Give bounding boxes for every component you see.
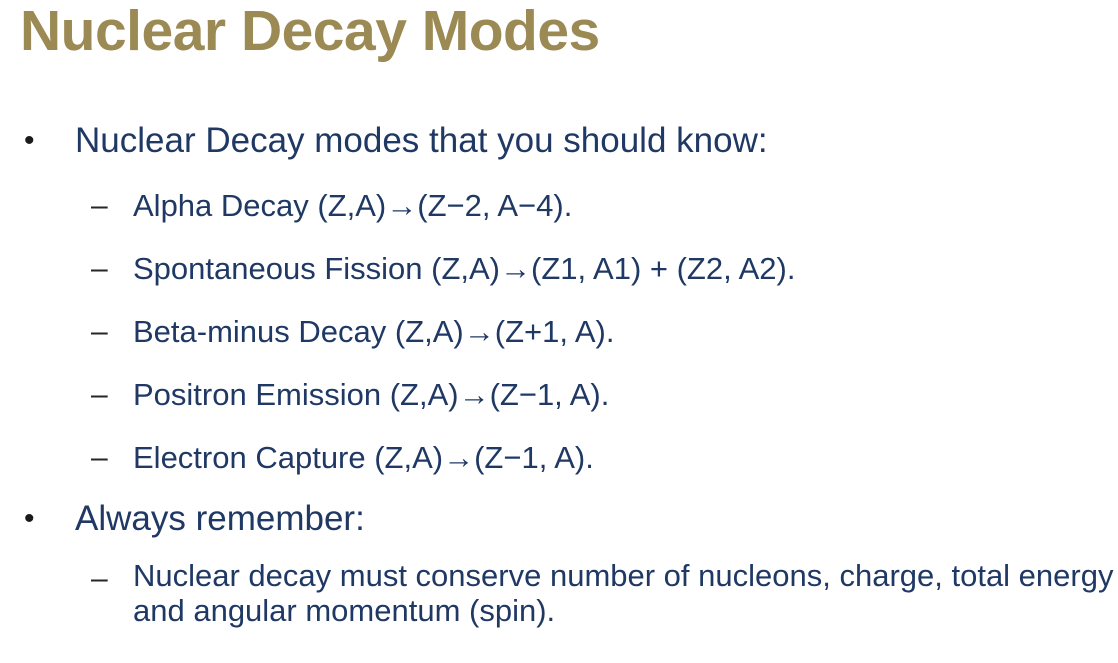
bullet-dash-icon: – bbox=[0, 311, 133, 353]
list-item: – Positron Emission (Z,A)→(Z−1, A). bbox=[0, 374, 1118, 416]
list-item: – Alpha Decay (Z,A)→(Z−2, A−4). bbox=[0, 185, 1118, 227]
slide-body: • Nuclear Decay modes that you should kn… bbox=[0, 118, 1118, 635]
list-item-label: Positron Emission (Z,A)→(Z−1, A). bbox=[133, 374, 1118, 416]
list-item: • Always remember: bbox=[0, 496, 1118, 542]
spacer bbox=[0, 170, 1118, 185]
list-item: – Spontaneous Fission (Z,A)→(Z1, A1) + (… bbox=[0, 248, 1118, 290]
list-item-label: Spontaneous Fission (Z,A)→(Z1, A1) + (Z2… bbox=[133, 248, 1118, 290]
page-title: Nuclear Decay Modes bbox=[20, 0, 600, 64]
bullet-dash-icon: – bbox=[0, 558, 133, 600]
bullet-dash-icon: – bbox=[0, 374, 133, 416]
spacer bbox=[0, 423, 1118, 437]
bullet-dot-icon: • bbox=[0, 496, 75, 542]
slide: Nuclear Decay Modes • Nuclear Decay mode… bbox=[0, 0, 1118, 663]
list-item: – Beta-minus Decay (Z,A)→(Z+1, A). bbox=[0, 311, 1118, 353]
list-item-label: Alpha Decay (Z,A)→(Z−2, A−4). bbox=[133, 185, 1118, 227]
list-item: – Nuclear decay must conserve number of … bbox=[0, 558, 1118, 628]
list-item: – Electron Capture (Z,A)→(Z−1, A). bbox=[0, 437, 1118, 479]
spacer bbox=[0, 486, 1118, 496]
spacer bbox=[0, 360, 1118, 374]
list-item-label: Always remember: bbox=[75, 496, 1118, 542]
spacer bbox=[0, 548, 1118, 558]
bullet-dot-icon: • bbox=[0, 118, 75, 164]
spacer bbox=[0, 234, 1118, 248]
spacer bbox=[0, 297, 1118, 311]
bullet-dash-icon: – bbox=[0, 248, 133, 290]
list-item-label: Beta-minus Decay (Z,A)→(Z+1, A). bbox=[133, 311, 1118, 353]
bullet-dash-icon: – bbox=[0, 437, 133, 479]
list-item-label: Nuclear Decay modes that you should know… bbox=[75, 118, 1118, 164]
list-item-label: Nuclear decay must conserve number of nu… bbox=[133, 558, 1118, 628]
list-item: • Nuclear Decay modes that you should kn… bbox=[0, 118, 1118, 164]
list-item-label: Electron Capture (Z,A)→(Z−1, A). bbox=[133, 437, 1118, 479]
bullet-dash-icon: – bbox=[0, 185, 133, 227]
